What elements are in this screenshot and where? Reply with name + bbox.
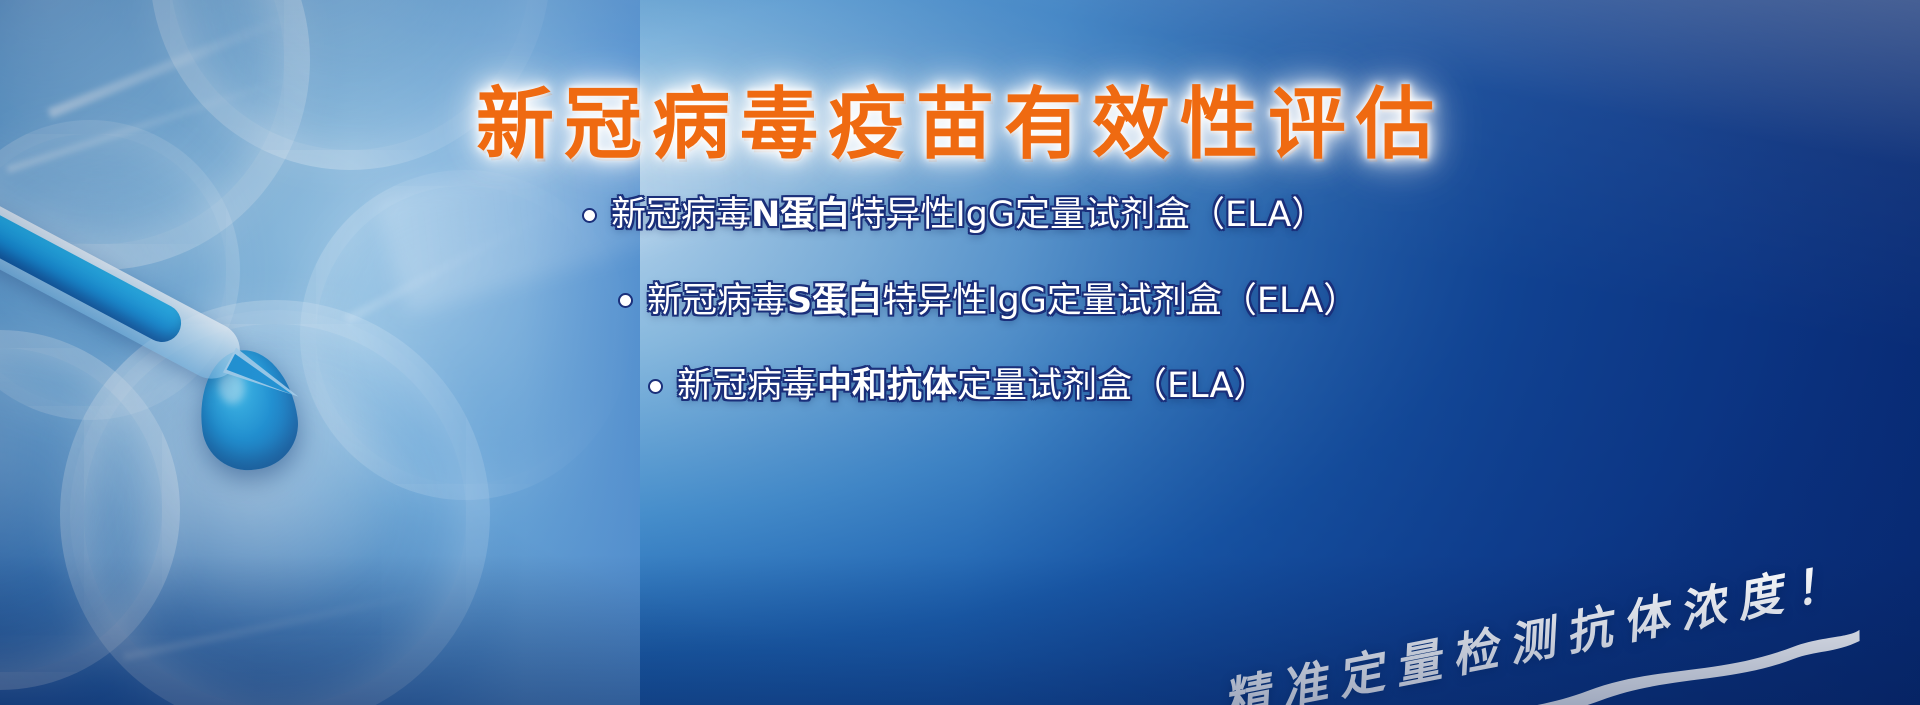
list-item-prefix: 新冠病毒 [647,282,787,321]
product-list: 新冠病毒 N蛋白 特异性IgG定量试剂盒（ELA） 新冠病毒 S蛋白 特异性Ig… [0,196,1920,453]
list-item-emphasis: S蛋白 [787,282,882,321]
list-item-prefix: 新冠病毒 [611,196,751,235]
bullet-dot-icon [584,210,595,221]
banner-title: 新冠病毒疫苗有效性评估 [0,62,1920,174]
list-item: 新冠病毒 中和抗体 定量试剂盒（ELA） [0,367,1920,406]
banner-content: 新冠病毒疫苗有效性评估 新冠病毒 N蛋白 特异性IgG定量试剂盒（ELA） 新冠… [0,0,1920,705]
list-item-suffix: 定量试剂盒（ELA） [957,367,1268,406]
handwritten-slogan: 精准定量检测抗体浓度！ [1217,544,1856,705]
list-item: 新冠病毒 S蛋白 特异性IgG定量试剂盒（ELA） [0,282,1920,321]
list-item-emphasis: 中和抗体 [817,367,957,406]
list-item: 新冠病毒 N蛋白 特异性IgG定量试剂盒（ELA） [0,196,1920,235]
slogan-group: 精准定量检测抗体浓度！ [1306,479,1866,669]
list-item-prefix: 新冠病毒 [677,367,817,406]
list-item-suffix: 特异性IgG定量试剂盒（ELA） [882,282,1358,321]
list-item-suffix: 特异性IgG定量试剂盒（ELA） [850,196,1326,235]
list-item-emphasis: N蛋白 [751,196,850,235]
bullet-dot-icon [620,295,631,306]
bullet-dot-icon [650,381,661,392]
vaccine-efficacy-banner: 新冠病毒疫苗有效性评估 新冠病毒 N蛋白 特异性IgG定量试剂盒（ELA） 新冠… [0,0,1920,705]
